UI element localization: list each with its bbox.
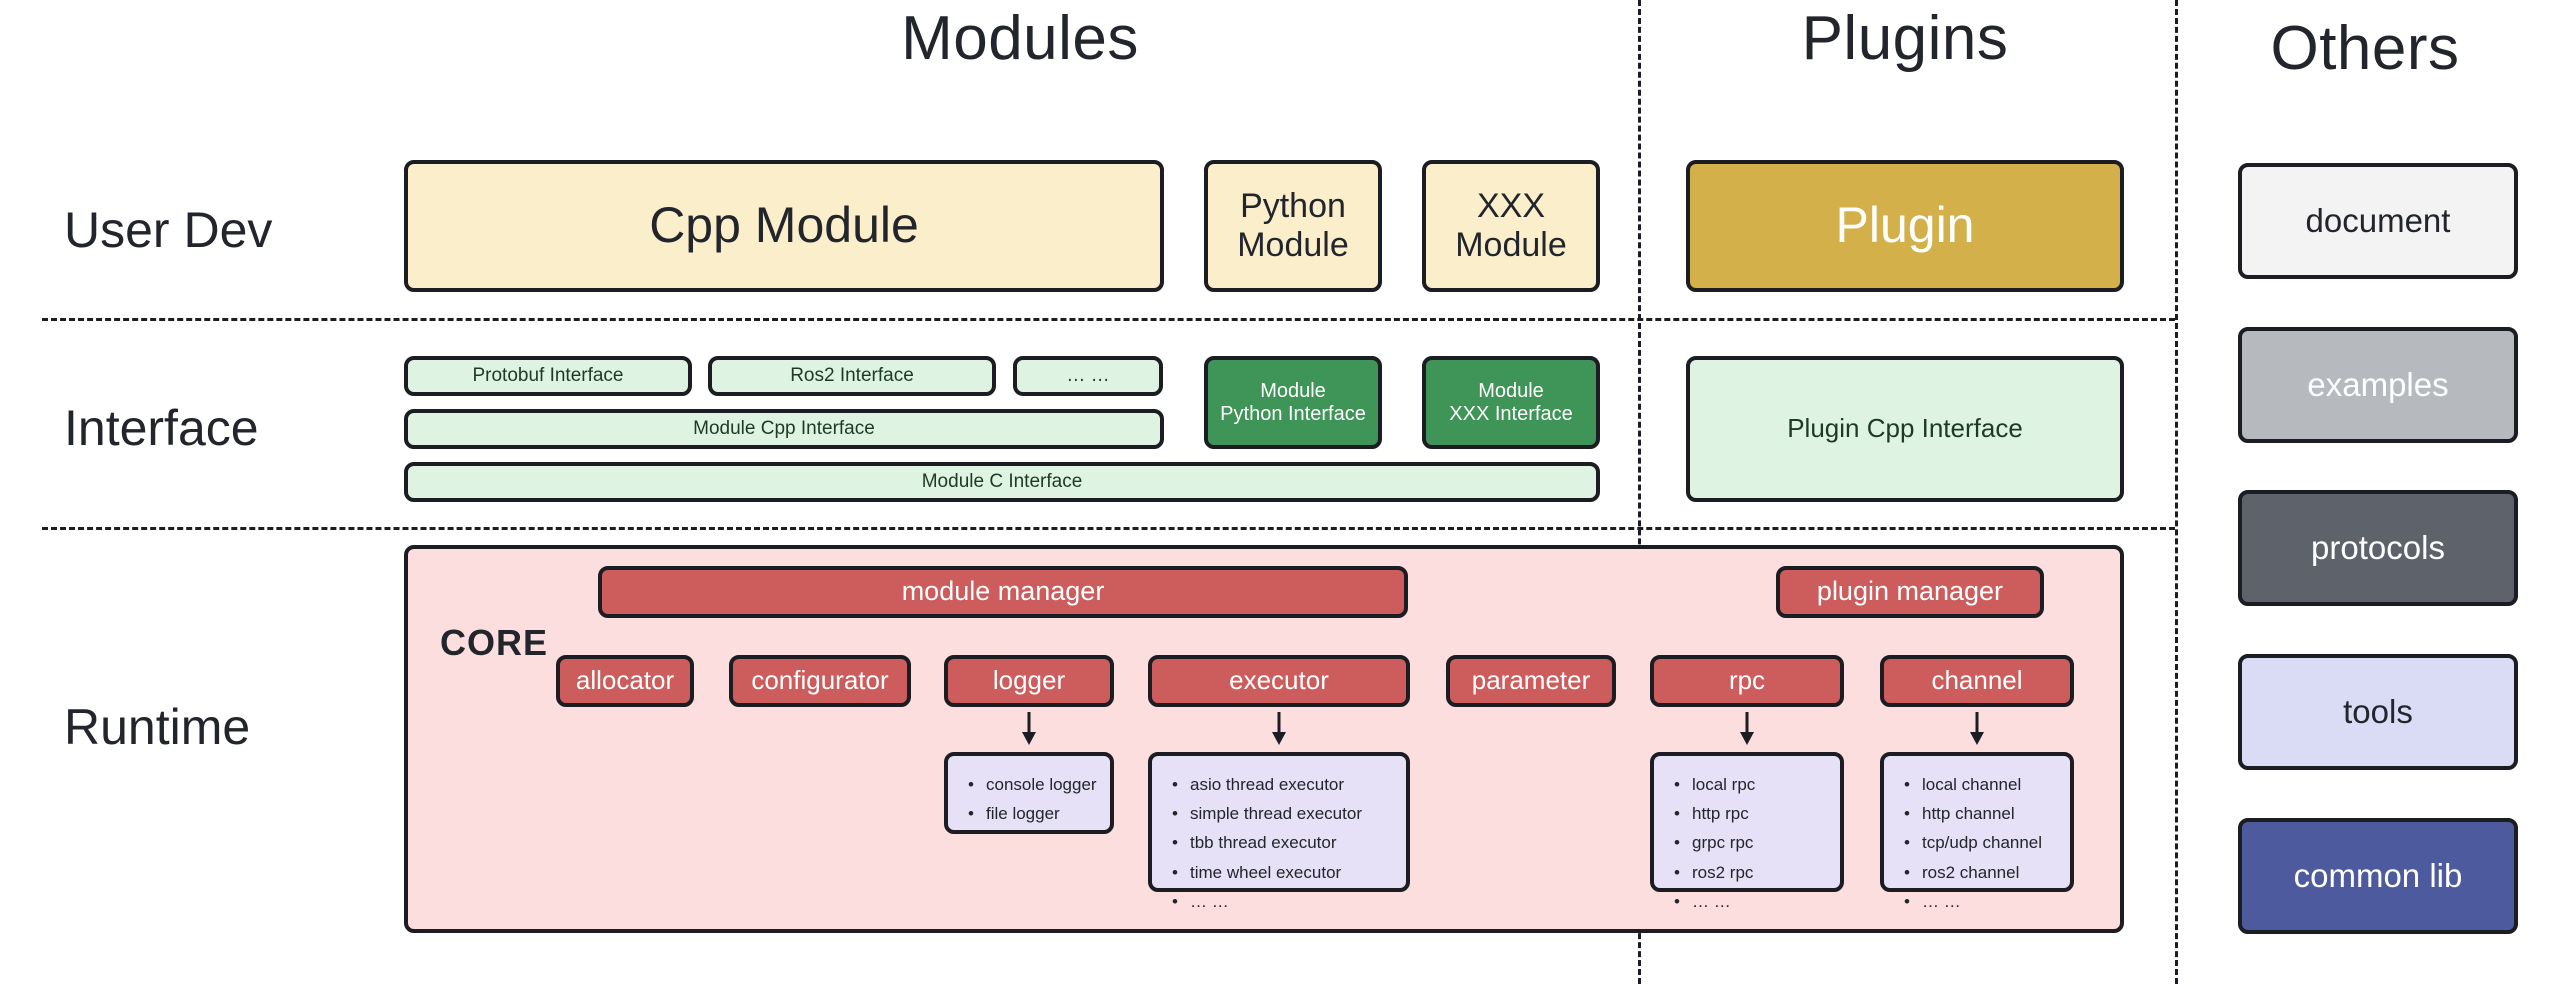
row-label-interface: Interface	[64, 403, 259, 453]
ros2-interface-box[interactable]: Ros2 Interface	[708, 356, 996, 396]
arrow-logger-down	[1014, 712, 1044, 746]
module-c-interface-box[interactable]: Module C Interface	[404, 462, 1600, 502]
column-title-plugins: Plugins	[1705, 8, 2105, 70]
list-item: … …	[1922, 887, 2060, 916]
list-item: ros2 channel	[1922, 858, 2060, 887]
module-xxx-interface-box[interactable]: Module XXX Interface	[1422, 356, 1600, 449]
ellipsis-interface-box[interactable]: … …	[1013, 356, 1163, 396]
row-separator-interface-runtime	[42, 527, 2175, 530]
column-title-modules: Modules	[820, 8, 1220, 70]
arrow-rpc-down	[1732, 712, 1762, 746]
component-logger[interactable]: logger	[944, 655, 1114, 707]
list-item: time wheel executor	[1190, 858, 1396, 887]
rpc-details-list: local rpc http rpc grpc rpc ros2 rpc … …	[1670, 770, 1830, 916]
executor-details-box: asio thread executor simple thread execu…	[1148, 752, 1410, 892]
module-cpp-interface-box[interactable]: Module Cpp Interface	[404, 409, 1164, 449]
core-label: CORE	[440, 625, 548, 661]
others-protocols-box[interactable]: protocols	[2238, 490, 2518, 606]
list-item: asio thread executor	[1190, 770, 1396, 799]
others-common-lib-box[interactable]: common lib	[2238, 818, 2518, 934]
list-item: local channel	[1922, 770, 2060, 799]
list-item: http channel	[1922, 799, 2060, 828]
executor-details-list: asio thread executor simple thread execu…	[1168, 770, 1396, 916]
plugin-manager-box[interactable]: plugin manager	[1776, 566, 2044, 618]
logger-details-box: console logger file logger	[944, 752, 1114, 834]
component-channel[interactable]: channel	[1880, 655, 2074, 707]
row-separator-userdev-interface	[42, 318, 2175, 321]
column-separator-plugins-others	[2175, 0, 2178, 984]
list-item: http rpc	[1692, 799, 1830, 828]
list-item: local rpc	[1692, 770, 1830, 799]
list-item: tbb thread executor	[1190, 828, 1396, 857]
list-item: tcp/udp channel	[1922, 828, 2060, 857]
logger-details-list: console logger file logger	[964, 770, 1100, 828]
module-python-interface-box[interactable]: Module Python Interface	[1204, 356, 1382, 449]
list-item: … …	[1190, 887, 1396, 916]
row-label-user-dev: User Dev	[64, 205, 272, 255]
list-item: grpc rpc	[1692, 828, 1830, 857]
list-item: … …	[1692, 887, 1830, 916]
plugin-cpp-interface-box[interactable]: Plugin Cpp Interface	[1686, 356, 2124, 502]
arrow-executor-down	[1264, 712, 1294, 746]
channel-details-box: local channel http channel tcp/udp chann…	[1880, 752, 2074, 892]
list-item: file logger	[986, 799, 1100, 828]
component-executor[interactable]: executor	[1148, 655, 1410, 707]
architecture-diagram: Modules Plugins Others User Dev Interfac…	[0, 0, 2560, 984]
component-configurator[interactable]: configurator	[729, 655, 911, 707]
list-item: console logger	[986, 770, 1100, 799]
channel-details-list: local channel http channel tcp/udp chann…	[1900, 770, 2060, 916]
component-rpc[interactable]: rpc	[1650, 655, 1844, 707]
others-document-box[interactable]: document	[2238, 163, 2518, 279]
arrow-channel-down	[1962, 712, 1992, 746]
python-module-box[interactable]: Python Module	[1204, 160, 1382, 292]
others-tools-box[interactable]: tools	[2238, 654, 2518, 770]
others-examples-box[interactable]: examples	[2238, 327, 2518, 443]
xxx-module-box[interactable]: XXX Module	[1422, 160, 1600, 292]
cpp-module-box[interactable]: Cpp Module	[404, 160, 1164, 292]
component-allocator[interactable]: allocator	[556, 655, 694, 707]
component-parameter[interactable]: parameter	[1446, 655, 1616, 707]
rpc-details-box: local rpc http rpc grpc rpc ros2 rpc … …	[1650, 752, 1844, 892]
plugin-box[interactable]: Plugin	[1686, 160, 2124, 292]
module-manager-box[interactable]: module manager	[598, 566, 1408, 618]
column-title-others: Others	[2185, 18, 2545, 80]
list-item: ros2 rpc	[1692, 858, 1830, 887]
row-label-runtime: Runtime	[64, 702, 250, 752]
protobuf-interface-box[interactable]: Protobuf Interface	[404, 356, 692, 396]
list-item: simple thread executor	[1190, 799, 1396, 828]
